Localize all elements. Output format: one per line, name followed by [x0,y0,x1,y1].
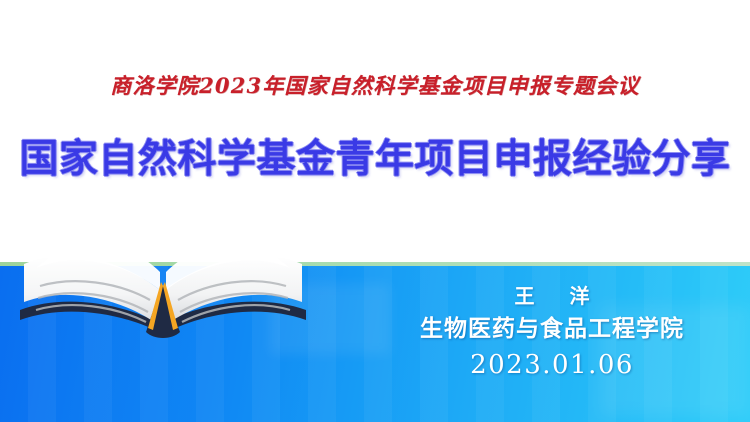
presenter-department: 生物医药与食品工程学院 [372,313,732,345]
page-title: 国家自然科学基金青年项目申报经验分享 [0,136,750,184]
presenter-name: 王 洋 [372,283,732,310]
open-book-icon [14,224,314,350]
title-slide: 商洛学院2023年国家自然科学基金项目申报专题会议 国家自然科学基金青年项目申报… [0,0,750,422]
presenter-info-block: 王 洋 生物医药与食品工程学院 2023.01.06 [372,283,732,381]
slide-kicker-text: 商洛学院2023年国家自然科学基金项目申报专题会议 [0,70,750,100]
presentation-date: 2023.01.06 [372,349,732,381]
